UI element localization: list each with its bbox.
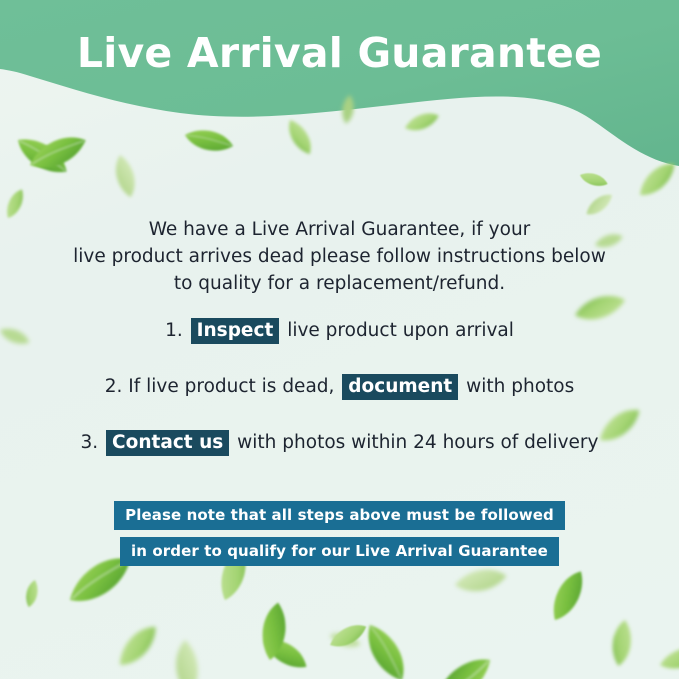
note-line-2: in order to qualify for our Live Arrival…: [120, 537, 559, 566]
step-highlight-contact-us: Contact us: [106, 430, 229, 456]
note-block: Please note that all steps above must be…: [0, 501, 679, 573]
live-arrival-guarantee-infographic: Live Arrival Guarantee: [0, 0, 679, 679]
step-text-1: live product upon arrival: [287, 320, 514, 341]
step-text-2: with photos: [466, 376, 574, 397]
note-row-1: Please note that all steps above must be…: [0, 501, 679, 537]
content-area: We have a Live Arrival Guarantee, if you…: [0, 0, 679, 679]
step-pretext-2: If live product is dead,: [128, 376, 334, 397]
step-item-2: 2. If live product is dead, document wit…: [30, 374, 649, 400]
step-number-1: 1.: [165, 320, 183, 341]
steps-list: 1. Inspect live product upon arrival 2. …: [30, 318, 649, 486]
intro-line-2: live product arrives dead please follow …: [60, 243, 619, 270]
intro-line-1: We have a Live Arrival Guarantee, if you…: [60, 216, 619, 243]
step-text-3: with photos within 24 hours of delivery: [237, 432, 598, 453]
intro-paragraph: We have a Live Arrival Guarantee, if you…: [60, 216, 619, 297]
note-row-2: in order to qualify for our Live Arrival…: [0, 537, 679, 573]
step-item-1: 1. Inspect live product upon arrival: [30, 318, 649, 344]
page-title: Live Arrival Guarantee: [0, 29, 679, 77]
step-number-3: 3.: [81, 432, 99, 453]
step-item-3: 3. Contact us with photos within 24 hour…: [30, 430, 649, 456]
step-number-2: 2.: [105, 376, 123, 397]
intro-line-3: to quality for a replacement/refund.: [60, 270, 619, 297]
step-highlight-document: document: [342, 374, 458, 400]
step-highlight-inspect: Inspect: [191, 318, 280, 344]
note-line-1: Please note that all steps above must be…: [114, 501, 565, 530]
